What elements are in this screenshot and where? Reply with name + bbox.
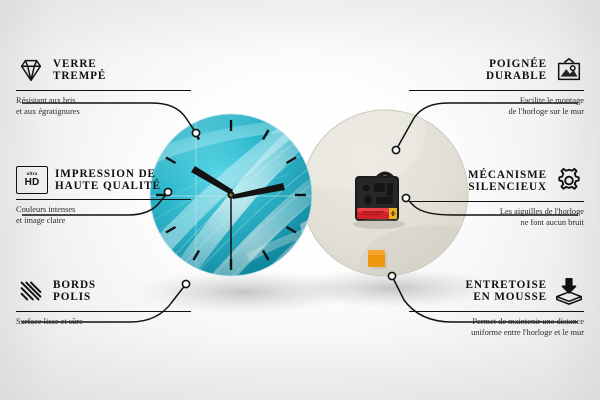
divider bbox=[16, 311, 191, 312]
callout-bords-polis: BORDS POLIS Surface lisse et sûre bbox=[16, 276, 191, 328]
infographic-canvas: VERRE TREMPÉ Résistant aux bris et aux é… bbox=[0, 0, 600, 400]
callout-title-2: HAUTE QUALITÉ bbox=[55, 180, 161, 192]
callout-title-2: POLIS bbox=[53, 291, 96, 303]
callout-desc-2: et aux égratignures bbox=[16, 107, 191, 117]
callout-verre-trempe: VERRE TREMPÉ Résistant aux bris et aux é… bbox=[16, 55, 191, 117]
callout-desc-1: Facilite le montage bbox=[409, 96, 584, 106]
callout-desc-1: Résistant aux bris bbox=[16, 96, 191, 106]
leader-endpoints bbox=[164, 129, 409, 287]
callout-title-2: EN MOUSSE bbox=[465, 291, 547, 303]
callout-desc-2: et image claire bbox=[16, 216, 191, 226]
callout-desc-2: de l'horloge sur le mur bbox=[409, 107, 584, 117]
polished-edges-icon bbox=[16, 276, 46, 306]
callout-title: ENTRETOISE bbox=[465, 279, 547, 291]
callout-title: POIGNÉE bbox=[486, 58, 547, 70]
callout-desc-2: ne font aucun bruit bbox=[409, 218, 584, 228]
callout-title-2: SILENCIEUX bbox=[468, 181, 547, 193]
callout-desc-1: Les aiguilles de l'horloge bbox=[409, 207, 584, 217]
callout-desc-2: uniforme entre l'horloge et le mur bbox=[409, 328, 584, 338]
callout-title: IMPRESSION DE bbox=[55, 168, 161, 180]
divider bbox=[409, 201, 584, 202]
callout-entretoise-en-mousse: ENTRETOISE EN MOUSSE Permet de maintenir… bbox=[409, 276, 584, 338]
diamond-icon bbox=[16, 55, 46, 85]
callout-title: MÉCANISME bbox=[468, 169, 547, 181]
callout-impression-haute-qualite: ultra HD IMPRESSION DE HAUTE QUALITÉ Cou… bbox=[16, 166, 191, 226]
ultra-hd-icon-bottom: HD bbox=[25, 178, 40, 188]
callout-title-2: TREMPÉ bbox=[53, 70, 106, 82]
callout-title: VERRE bbox=[53, 58, 106, 70]
callout-mecanisme-silencieux: MÉCANISME SILENCIEUX Les aiguilles de l'… bbox=[409, 166, 584, 228]
callout-title: BORDS bbox=[53, 279, 96, 291]
divider bbox=[16, 199, 191, 200]
callout-desc-1: Surface lisse et sûre bbox=[16, 317, 191, 327]
divider bbox=[16, 90, 191, 91]
spacer-press-icon bbox=[554, 276, 584, 306]
divider bbox=[409, 90, 584, 91]
callout-desc-1: Permet de maintenir une distance bbox=[409, 317, 584, 327]
callout-desc-1: Couleurs intenses bbox=[16, 205, 191, 215]
ultra-hd-icon: ultra HD bbox=[16, 166, 48, 194]
divider bbox=[409, 311, 584, 312]
picture-hanger-icon bbox=[554, 55, 584, 85]
callout-title-2: DURABLE bbox=[486, 70, 547, 82]
gear-icon bbox=[554, 166, 584, 196]
callout-poignee-durable: POIGNÉE DURABLE Facilite le montage de l… bbox=[409, 55, 584, 117]
